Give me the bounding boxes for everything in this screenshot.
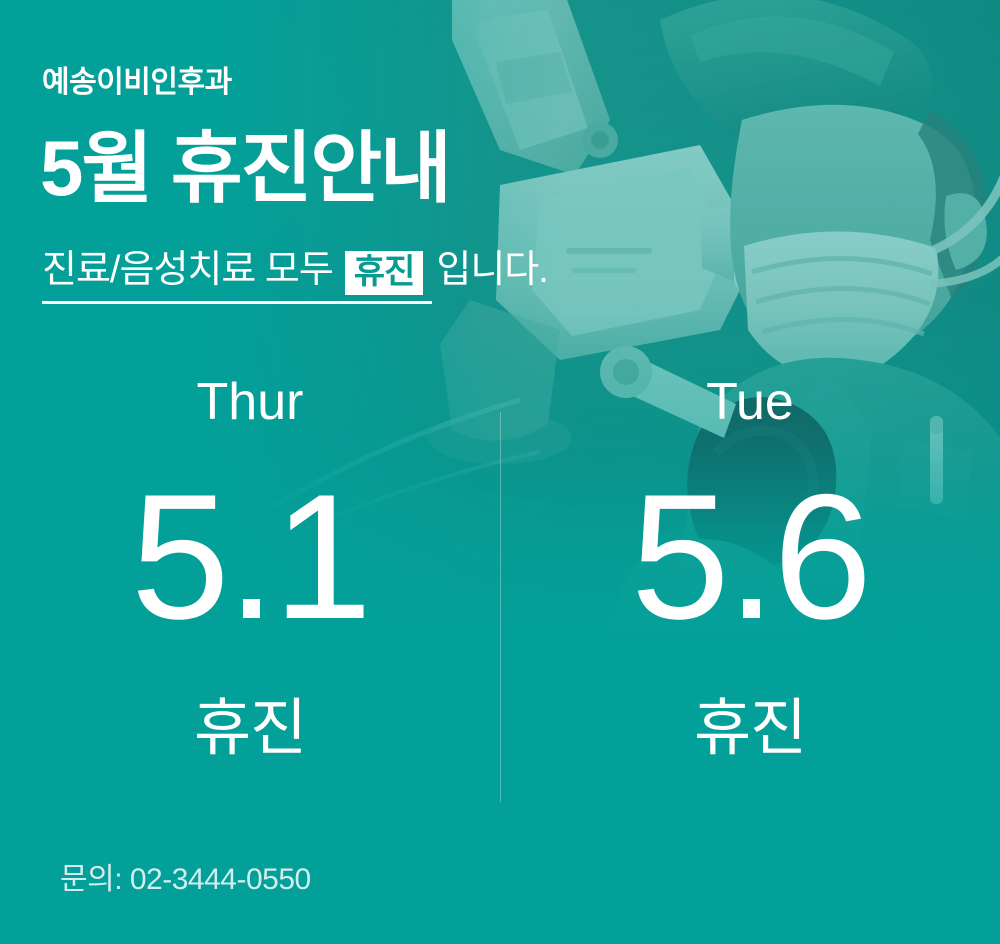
date-number: 5.1 xyxy=(0,468,500,646)
page-title: 5월 휴진안내 xyxy=(40,126,450,212)
date-status-label: 휴진 xyxy=(0,698,500,760)
contact-info: 문의: 02-3444-0550 xyxy=(60,865,311,895)
date-status-label: 휴진 xyxy=(500,698,1000,760)
weekday-label: Tue xyxy=(500,376,1000,428)
subtitle-suffix: 입니다. xyxy=(436,251,547,289)
subtitle-underlined-group: 진료/음성치료 모두 휴진 xyxy=(42,250,432,304)
status-badge: 휴진 xyxy=(345,251,424,295)
holiday-notice-poster: 예송이비인후과 5월 휴진안내 진료/음성치료 모두 휴진 입니다. Thur … xyxy=(0,0,1000,944)
date-column-first: Thur 5.1 휴진 xyxy=(0,360,500,810)
date-column-second: Tue 5.6 휴진 xyxy=(500,360,1000,810)
clinic-name: 예송이비인후과 xyxy=(42,68,232,98)
date-number: 5.6 xyxy=(500,468,1000,646)
column-divider xyxy=(500,412,501,802)
subtitle-prefix: 진료/음성치료 모두 xyxy=(42,251,333,289)
subtitle-line: 진료/음성치료 모두 휴진 입니다. xyxy=(42,250,548,304)
weekday-label: Thur xyxy=(0,376,500,428)
